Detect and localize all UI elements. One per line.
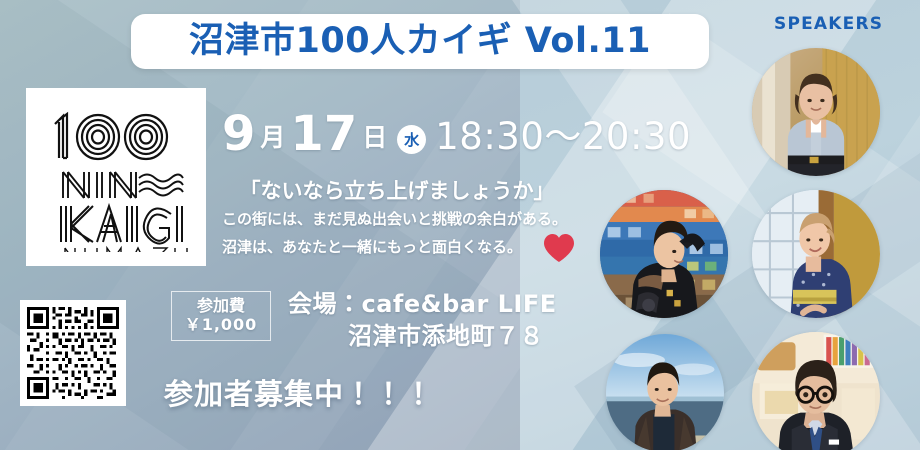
speaker-photo-1 [752, 48, 880, 176]
speaker-photo-3 [752, 332, 880, 450]
event-time: 18:30〜20:30 [435, 117, 691, 158]
event-tagline-block: 「ないなら立ち上げましょうか」 この街には、まだ見ぬ出会いと挑戦の余白がある。 … [222, 178, 572, 259]
event-flyer: 沼津市100人カイギ Vol.11 [0, 0, 920, 450]
qr-code-card[interactable] [20, 300, 126, 406]
date-month-unit: 月 [255, 118, 290, 158]
venue-address: 沼津市添地町７８ [288, 320, 557, 352]
tagline-line-1: この街には、まだ見ぬ出会いと挑戦の余白がある。 [222, 208, 572, 231]
participation-fee-box: 参加費 ￥1,000 [171, 291, 271, 341]
speaker-photo-5 [600, 190, 728, 318]
tagline-line-2: 沼津は、あなたと一緒にもっと面白くなる。 [222, 236, 572, 259]
date-weekday-badge: 水 [397, 125, 426, 154]
venue-name: 会場：cafe&bar LIFE [288, 288, 557, 320]
speaker-photo-2 [752, 190, 880, 318]
fee-amount: ￥1,000 [185, 315, 258, 335]
logo-card [26, 88, 206, 266]
hyakunin-kaigi-logo [41, 102, 191, 252]
fee-label: 参加費 [197, 297, 245, 315]
page-title: 沼津市100人カイギ Vol.11 [189, 24, 651, 59]
date-month-number: 9 [222, 112, 255, 158]
date-day-unit: 日 [357, 118, 392, 158]
venue-block: 会場：cafe&bar LIFE 沼津市添地町７８ [288, 288, 557, 353]
heart-icon [543, 233, 575, 263]
speaker-photo-4 [606, 334, 724, 450]
tagline-headline: 「ないなら立ち上げましょうか」 [222, 178, 572, 204]
event-date-row: 9 月 17 日 水 18:30〜20:30 [222, 100, 691, 158]
event-title-pill: 沼津市100人カイギ Vol.11 [131, 14, 709, 69]
speakers-label: SPEAKERS [774, 14, 883, 34]
qr-code[interactable] [27, 307, 119, 399]
call-to-action-text: 参加者募集中！！！ [164, 371, 434, 413]
date-day-number: 17 [290, 112, 357, 158]
